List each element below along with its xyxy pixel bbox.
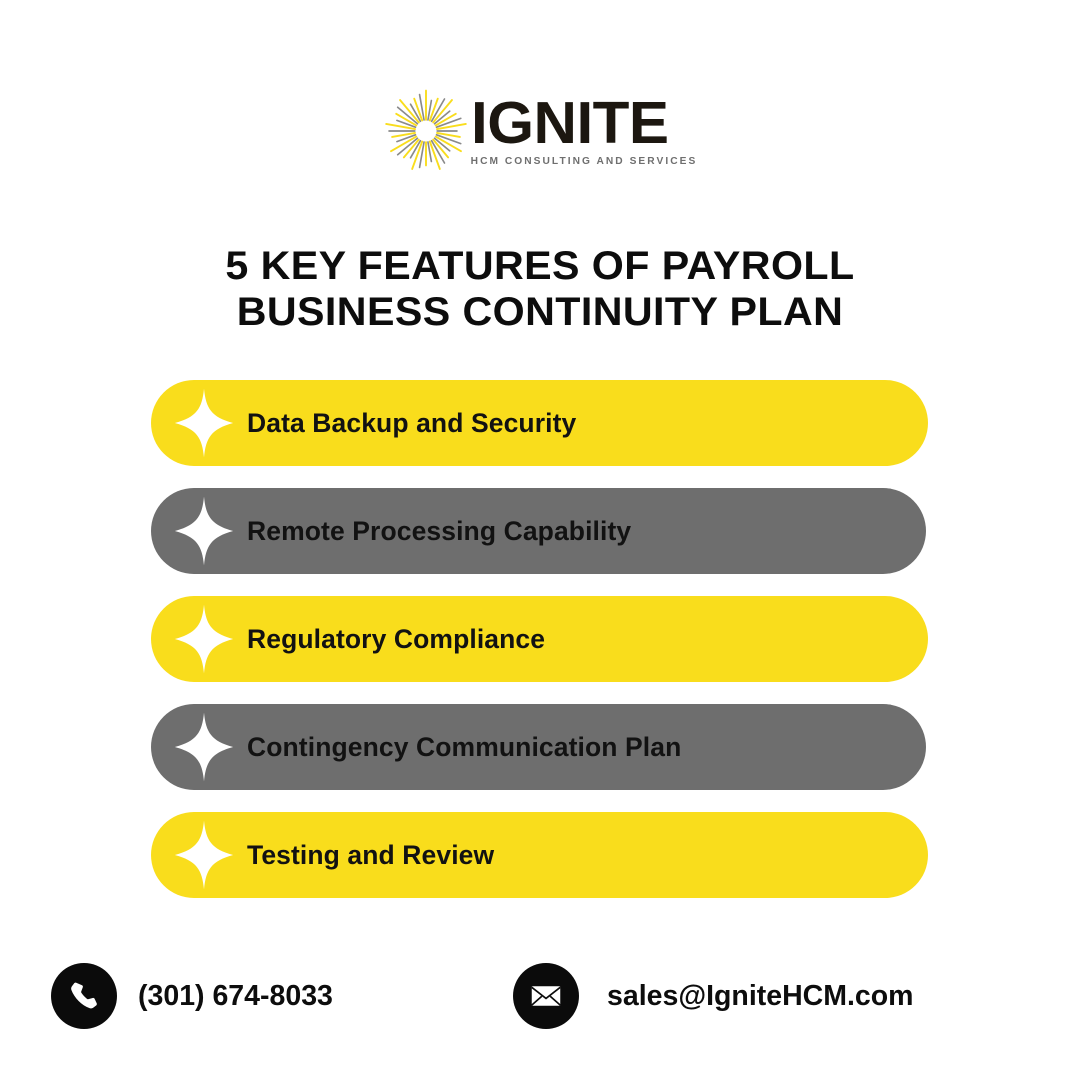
feature-pill[interactable]: Testing and Review [151,812,928,898]
poster-canvas: IGNITE HCM CONSULTING AND SERVICES 5 KEY… [0,0,1080,1080]
phone-icon [51,963,117,1029]
sparkle-icon [173,495,235,567]
feature-label: Contingency Communication Plan [247,732,681,763]
brand-wordmark-wrap: IGNITE HCM CONSULTING AND SERVICES [471,95,698,168]
sparkle-icon [173,387,235,459]
feature-label: Data Backup and Security [247,408,576,439]
brand-tagline: HCM CONSULTING AND SERVICES [471,156,698,167]
sparkle-icon [173,603,235,675]
brand-wordmark: IGNITE [471,95,702,152]
page-title-line-2: BUSINESS CONTINUITY PLAN [0,289,1080,335]
sparkle-icon [173,711,235,783]
starburst-icon [383,88,469,174]
contact-bar: (301) 674-8033 sales@IgniteHCM.com [0,963,1080,1037]
feature-pill[interactable]: Data Backup and Security [151,380,928,466]
feature-label: Remote Processing Capability [247,516,631,547]
feature-pill[interactable]: Regulatory Compliance [151,596,928,682]
envelope-icon [513,963,579,1029]
page-title: 5 KEY FEATURES OF PAYROLL BUSINESS CONTI… [0,243,1080,336]
brand-logo: IGNITE HCM CONSULTING AND SERVICES [0,88,1080,174]
feature-pill[interactable]: Contingency Communication Plan [151,704,926,790]
feature-pill[interactable]: Remote Processing Capability [151,488,926,574]
contact-email[interactable]: sales@IgniteHCM.com [513,963,914,1029]
email-address: sales@IgniteHCM.com [607,980,914,1013]
page-title-line-1: 5 KEY FEATURES OF PAYROLL [0,243,1080,289]
phone-number: (301) 674-8033 [138,980,333,1013]
feature-label: Testing and Review [247,840,494,871]
sparkle-icon [173,819,235,891]
contact-phone[interactable]: (301) 674-8033 [51,963,333,1029]
feature-label: Regulatory Compliance [247,624,545,655]
feature-list: Data Backup and SecurityRemote Processin… [151,380,928,920]
